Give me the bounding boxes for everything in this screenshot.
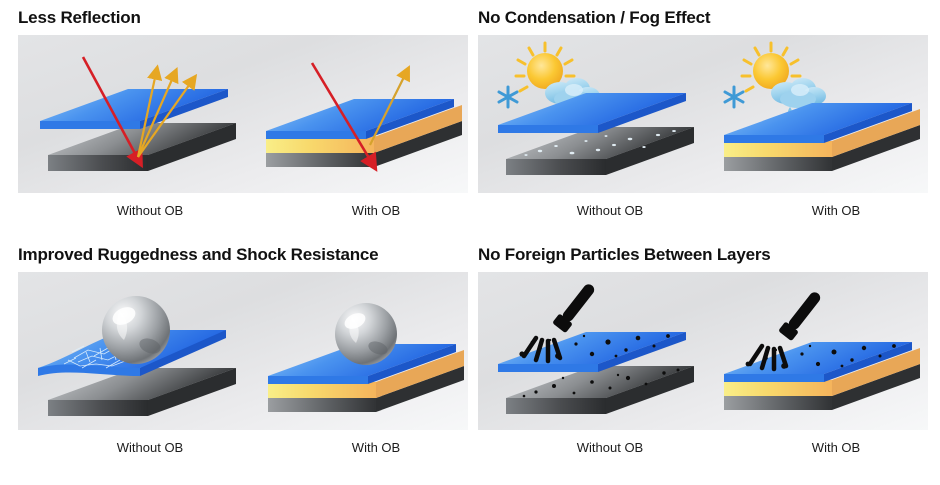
panel-captions: Without OB With OB [478,430,928,464]
panel-no-condensation: No Condensation / Fog Effect [478,8,928,227]
caption-without-ob: Without OB [530,203,690,218]
panel-stage [478,272,928,430]
snowflake-icon [499,87,517,107]
lcd-layer [48,368,236,416]
caption-without-ob: Without OB [70,203,230,218]
panel-title: Improved Ruggedness and Shock Resistance [18,245,468,265]
panel-captions: Without OB With OB [478,193,928,227]
caption-without-ob: Without OB [530,440,690,455]
lcd-layer [506,366,694,414]
scene-impact-without-ob [28,272,258,430]
panel-stage [18,35,468,193]
optical-bonding-comparison-page: Less Reflection [0,0,940,485]
scene-condensation-without-ob [488,35,718,193]
panel-less-reflection: Less Reflection [18,8,468,227]
steel-ball-icon [102,296,170,364]
scene-condensation-with-ob [714,35,928,193]
caption-with-ob: With OB [296,440,456,455]
steel-ball-icon [335,303,397,365]
panel-title: No Foreign Particles Between Layers [478,245,928,265]
scene-reflection-without-ob [28,35,258,193]
panel-improved-ruggedness: Improved Ruggedness and Shock Resistance [18,245,468,464]
scene-impact-with-ob [254,272,468,430]
panel-stage [18,272,468,430]
scene-particles-without-ob [488,272,718,430]
caption-without-ob: Without OB [70,440,230,455]
caption-with-ob: With OB [756,440,916,455]
snowflake-icon [725,87,743,107]
caption-with-ob: With OB [296,203,456,218]
scene-particles-with-ob [714,272,928,430]
panel-captions: Without OB With OB [18,193,468,227]
lcd-layer [506,127,694,175]
scene-reflection-with-ob [254,35,468,193]
panel-no-foreign-particles: No Foreign Particles Between Layers [478,245,928,464]
panel-stage [478,35,928,193]
caption-with-ob: With OB [756,203,916,218]
panel-captions: Without OB With OB [18,430,468,464]
panel-title: Less Reflection [18,8,468,28]
panel-title: No Condensation / Fog Effect [478,8,928,28]
